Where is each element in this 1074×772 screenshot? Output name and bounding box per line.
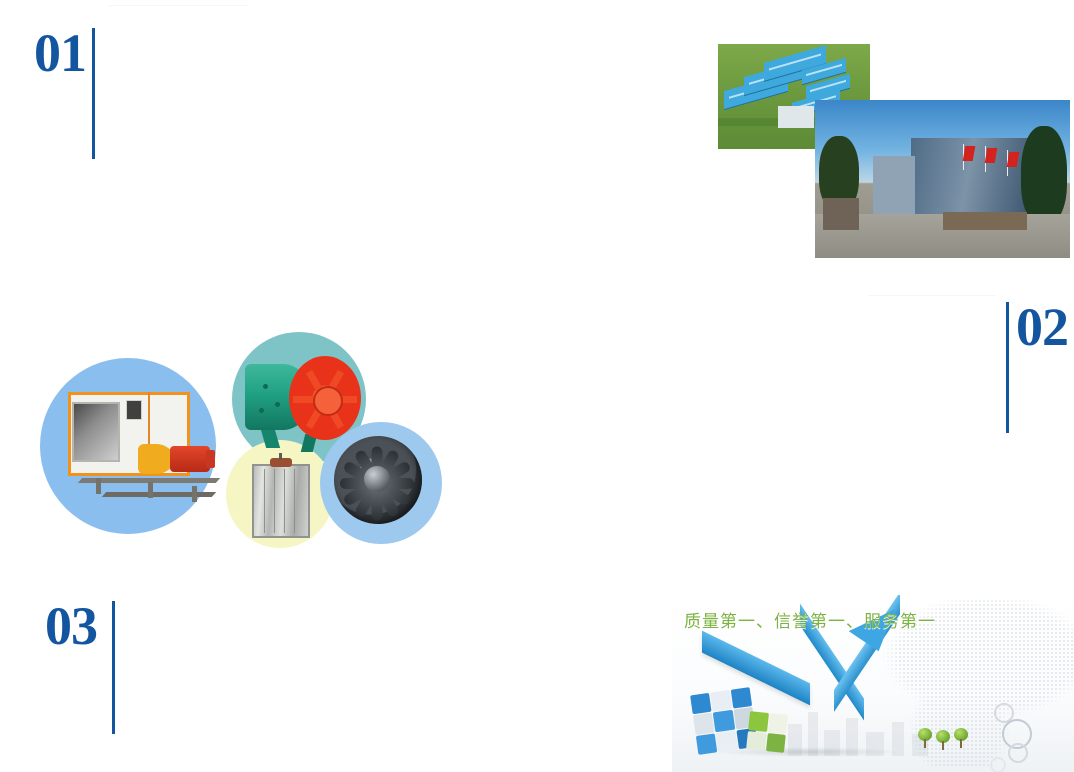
section-number-03: 03 [45,599,97,653]
green-cube-cluster [746,711,788,753]
section-marker-03: 03 [45,599,115,734]
cabinet-centrifugal-fan-image [52,382,232,512]
section-number-02: 02 [1016,300,1068,354]
section-rule-02 [1006,302,1009,433]
product-photo-cluster [36,330,426,555]
slide-canvas: 01 02 [0,0,1074,772]
section-rule-01 [92,28,95,159]
metal-blade-fan-image [332,434,436,534]
decorative-hairline-middle [868,295,996,296]
air-volume-damper-image [248,458,314,540]
section-number-01: 01 [34,26,86,80]
tree-icon-2 [936,730,950,750]
tree-icon-3 [954,728,968,748]
decorative-hairline-top [108,5,248,6]
section-rule-03 [112,601,115,734]
bubble-small-mid [1008,743,1028,763]
section-marker-02: 02 [1006,300,1068,433]
bubble-small-bottom [990,757,1006,772]
section-marker-01: 01 [34,26,95,159]
tree-icon-1 [918,728,932,748]
company-slogan: 质量第一、信誉第一、服务第一 [684,607,936,632]
factory-building-photo [815,100,1070,258]
growth-arrow-banner: 质量第一、信誉第一、服务第一 [672,595,1074,772]
